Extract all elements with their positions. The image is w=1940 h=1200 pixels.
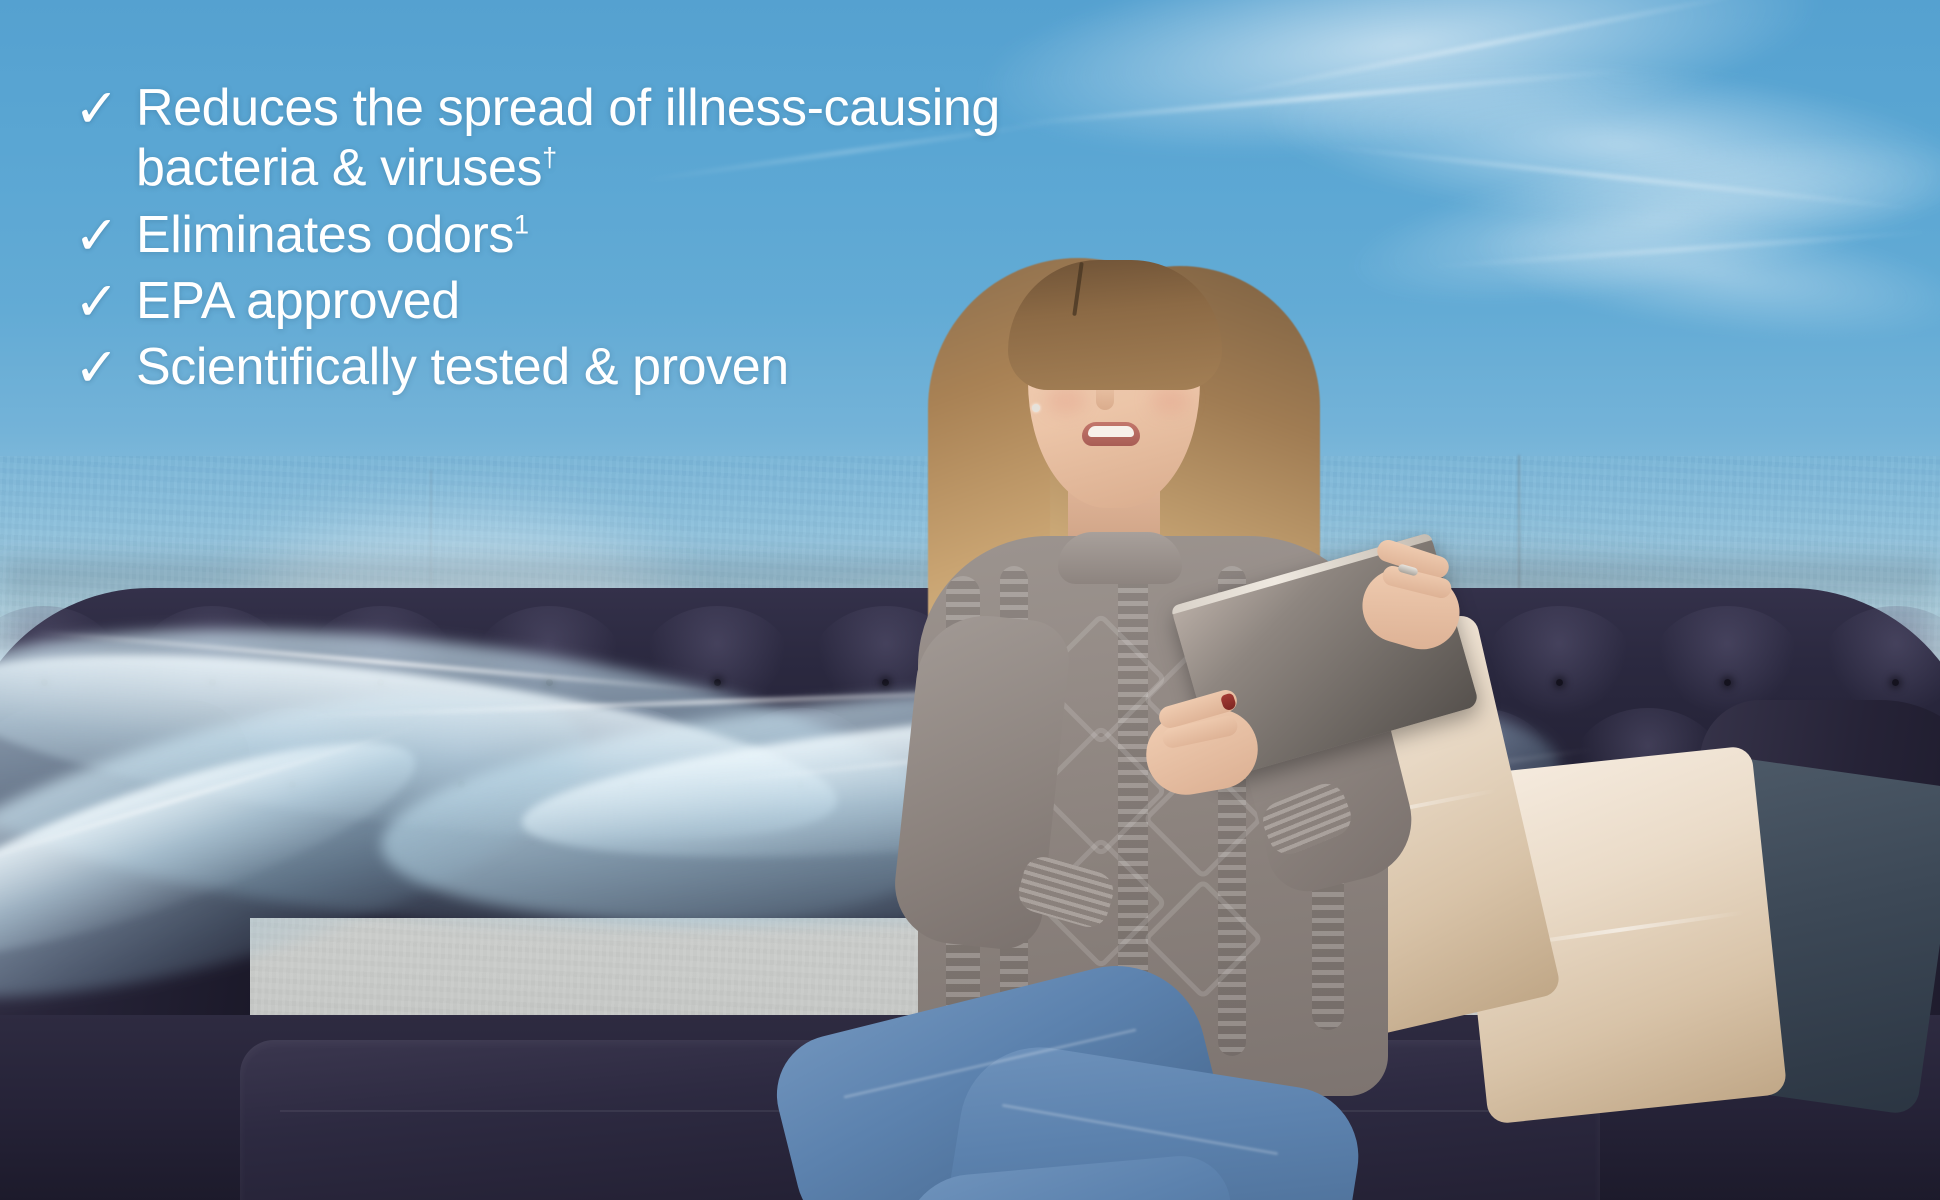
- sweater-collar: [1058, 532, 1182, 584]
- benefit-list: ✓ Reduces the spread of illness-causing …: [74, 78, 1134, 404]
- benefit-item-4: ✓ Scientifically tested & proven: [74, 337, 1134, 397]
- footnote-marker-dagger: †: [542, 143, 557, 173]
- check-icon: ✓: [74, 275, 136, 329]
- teeth: [1088, 426, 1134, 437]
- benefit-item-1: ✓ Reduces the spread of illness-causing …: [74, 78, 1134, 199]
- sofa-tuft: [306, 606, 456, 724]
- benefit-text-3: EPA approved: [136, 271, 460, 331]
- check-icon: ✓: [74, 341, 136, 395]
- marketing-banner: ✓ Reduces the spread of illness-causing …: [0, 0, 1940, 1200]
- benefit-text-1: Reduces the spread of illness-causing ba…: [136, 78, 1016, 199]
- benefit-text-2: Eliminates odors1: [136, 205, 529, 265]
- sofa-tuft: [1484, 606, 1634, 724]
- check-icon: ✓: [74, 82, 136, 136]
- benefit-text-4: Scientifically tested & proven: [136, 337, 789, 397]
- check-icon: ✓: [74, 209, 136, 263]
- benefit-item-2: ✓ Eliminates odors1: [74, 205, 1134, 265]
- sofa-tuft: [726, 708, 876, 826]
- earring: [1032, 404, 1040, 412]
- sofa-tuft: [387, 708, 537, 826]
- sofa-tuft: [556, 708, 706, 826]
- footnote-marker-one: 1: [514, 209, 529, 239]
- sofa-tuft: [642, 606, 792, 724]
- benefit-item-3: ✓ EPA approved: [74, 271, 1134, 331]
- sofa-tuft: [474, 606, 624, 724]
